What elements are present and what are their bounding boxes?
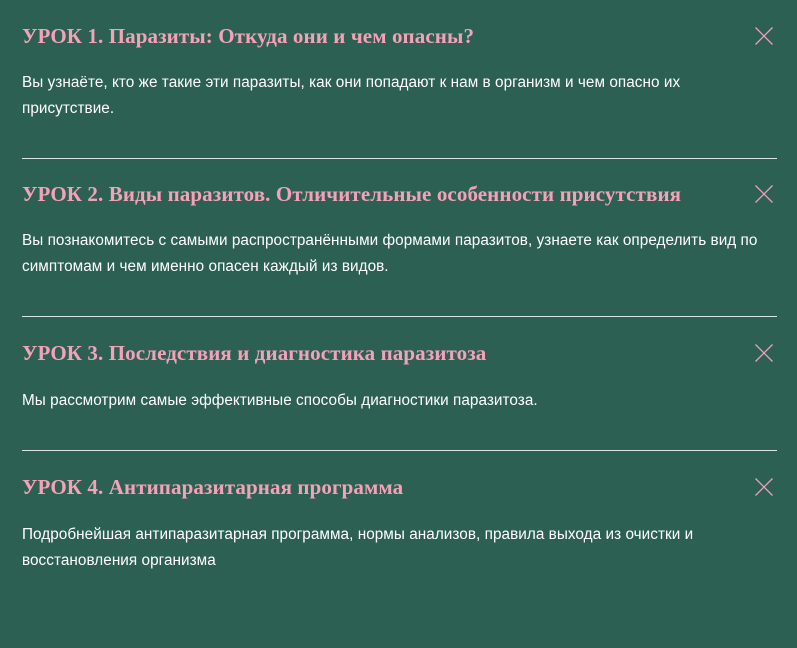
close-button[interactable]: [753, 342, 775, 364]
lesson-item: УРОК 1. Паразиты: Откуда они и чем опасн…: [0, 0, 797, 159]
lesson-header[interactable]: УРОК 3. Последствия и диагностика парази…: [0, 317, 797, 366]
lesson-body: Вы узнаёте, кто же такие эти паразиты, к…: [0, 49, 795, 122]
divider-wrap: [0, 122, 797, 159]
lesson-header[interactable]: УРОК 2. Виды паразитов. Отличительные ос…: [0, 159, 797, 207]
lesson-body: Вы познакомитесь с самыми распространённ…: [0, 207, 795, 280]
lesson-title: УРОК 3. Последствия и диагностика парази…: [22, 340, 739, 366]
lesson-body-text: Вы познакомитесь с самыми распространённ…: [22, 228, 773, 280]
lesson-body: Подробнейшая антипаразитарная программа,…: [0, 500, 795, 574]
divider-wrap: [0, 414, 797, 451]
lesson-body-text: Вы узнаёте, кто же такие эти паразиты, к…: [22, 70, 773, 122]
close-icon: [753, 342, 775, 364]
lesson-body-text: Мы рассмотрим самые эффективные способы …: [22, 388, 773, 414]
lesson-header[interactable]: УРОК 4. Антипаразитарная программа: [0, 451, 797, 500]
lesson-body-text: Подробнейшая антипаразитарная программа,…: [22, 522, 773, 574]
lesson-header[interactable]: УРОК 1. Паразиты: Откуда они и чем опасн…: [0, 0, 797, 49]
close-button[interactable]: [753, 183, 775, 205]
lesson-item: УРОК 3. Последствия и диагностика парази…: [0, 317, 797, 451]
divider-wrap: [0, 280, 797, 317]
close-button[interactable]: [753, 25, 775, 47]
close-button[interactable]: [753, 476, 775, 498]
lesson-accordion: УРОК 1. Паразиты: Откуда они и чем опасн…: [0, 0, 797, 648]
lesson-item: УРОК 2. Виды паразитов. Отличительные ос…: [0, 159, 797, 317]
close-icon: [753, 476, 775, 498]
close-icon: [753, 183, 775, 205]
lesson-title: УРОК 4. Антипаразитарная программа: [22, 474, 739, 500]
lesson-title: УРОК 2. Виды паразитов. Отличительные ос…: [22, 181, 739, 207]
lesson-body: Мы рассмотрим самые эффективные способы …: [0, 366, 795, 414]
lesson-title: УРОК 1. Паразиты: Откуда они и чем опасн…: [22, 23, 739, 49]
lesson-item: УРОК 4. Антипаразитарная программа Подро…: [0, 451, 797, 574]
close-icon: [753, 25, 775, 47]
